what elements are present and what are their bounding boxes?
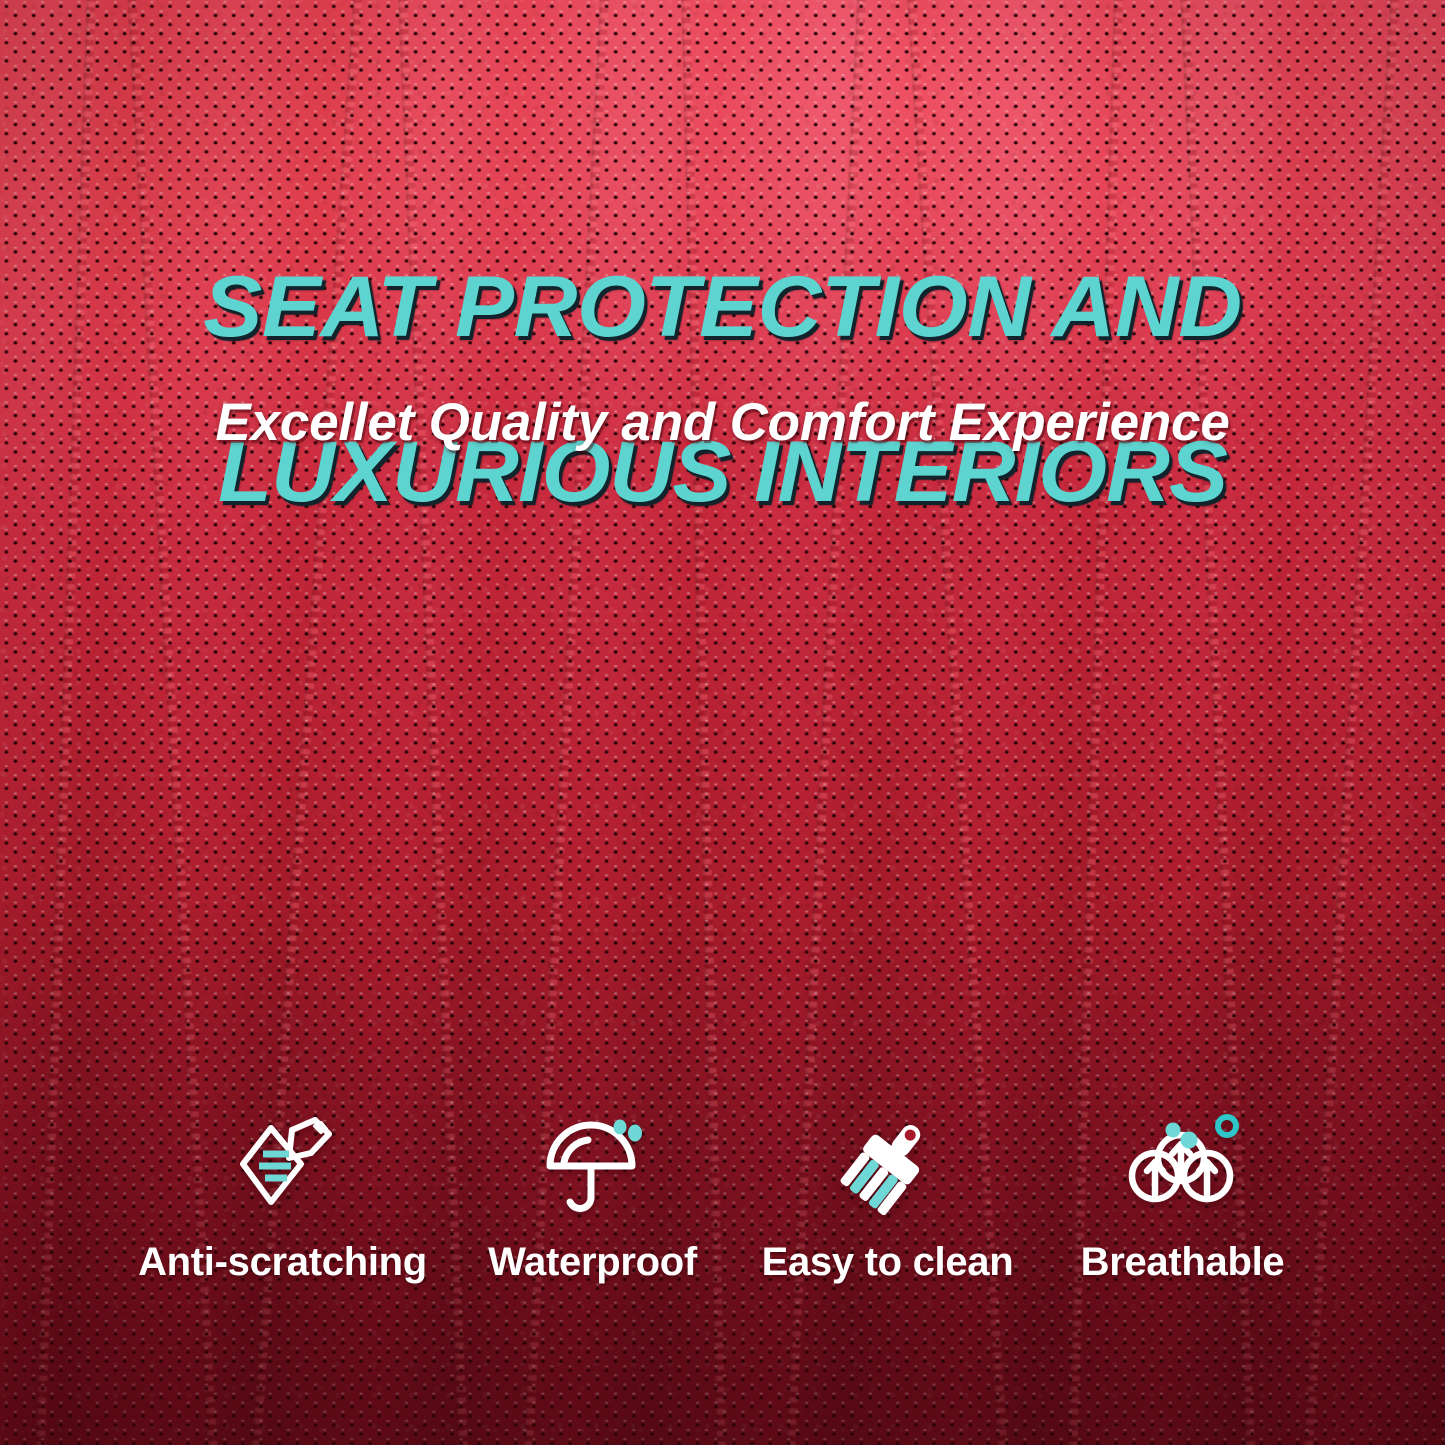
teal-ring (1218, 1117, 1236, 1135)
feature-row: Anti-scratching (0, 1110, 1445, 1285)
anti-scratch-icon (229, 1114, 337, 1218)
feature-waterproof: Waterproof (448, 1110, 738, 1285)
icon-container (540, 1110, 646, 1222)
product-banner: SEAT PROTECTION AND LUXURIOUS INTERIORS … (0, 0, 1445, 1445)
feature-easy-to-clean: Easy to clean (738, 1110, 1038, 1285)
icon-container (835, 1110, 941, 1222)
banner-headline: SEAT PROTECTION AND LUXURIOUS INTERIORS (0, 183, 1445, 596)
banner-subheadline: Excellet Quality and Comfort Experience (0, 392, 1445, 453)
breathable-icon (1127, 1114, 1239, 1218)
brush-icon (835, 1114, 941, 1218)
feature-label: Breathable (1081, 1240, 1285, 1285)
icon-container (1127, 1110, 1239, 1222)
feature-anti-scratching: Anti-scratching (118, 1110, 448, 1285)
feature-label: Anti-scratching (138, 1240, 427, 1285)
umbrella-icon (540, 1114, 646, 1218)
icon-container (229, 1110, 337, 1222)
headline-line-1: SEAT PROTECTION AND (0, 266, 1445, 349)
teal-dot-small (1165, 1123, 1180, 1138)
feature-label: Waterproof (488, 1240, 697, 1285)
feature-breathable: Breathable (1038, 1110, 1328, 1285)
teal-dot-large (1180, 1132, 1197, 1149)
feature-label: Easy to clean (762, 1240, 1014, 1285)
